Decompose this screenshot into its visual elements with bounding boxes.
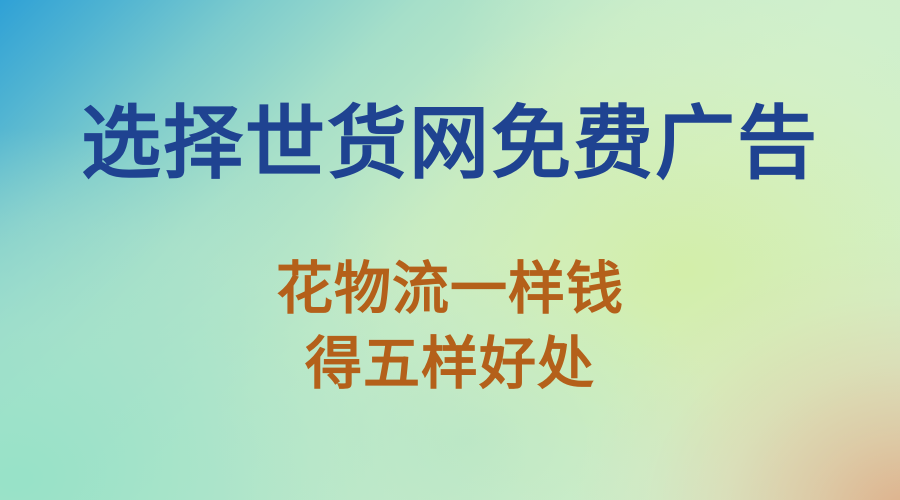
promo-banner: 选择世货网免费广告 花物流一样钱 得五样好处 xyxy=(0,0,900,500)
banner-subtitle-line-2: 得五样好处 xyxy=(0,327,900,402)
banner-content: 选择世货网免费广告 花物流一样钱 得五样好处 xyxy=(0,0,900,500)
banner-subtitle-line-1: 花物流一样钱 xyxy=(0,252,900,327)
banner-subtitle: 花物流一样钱 得五样好处 xyxy=(0,252,900,402)
banner-headline: 选择世货网免费广告 xyxy=(0,104,900,184)
